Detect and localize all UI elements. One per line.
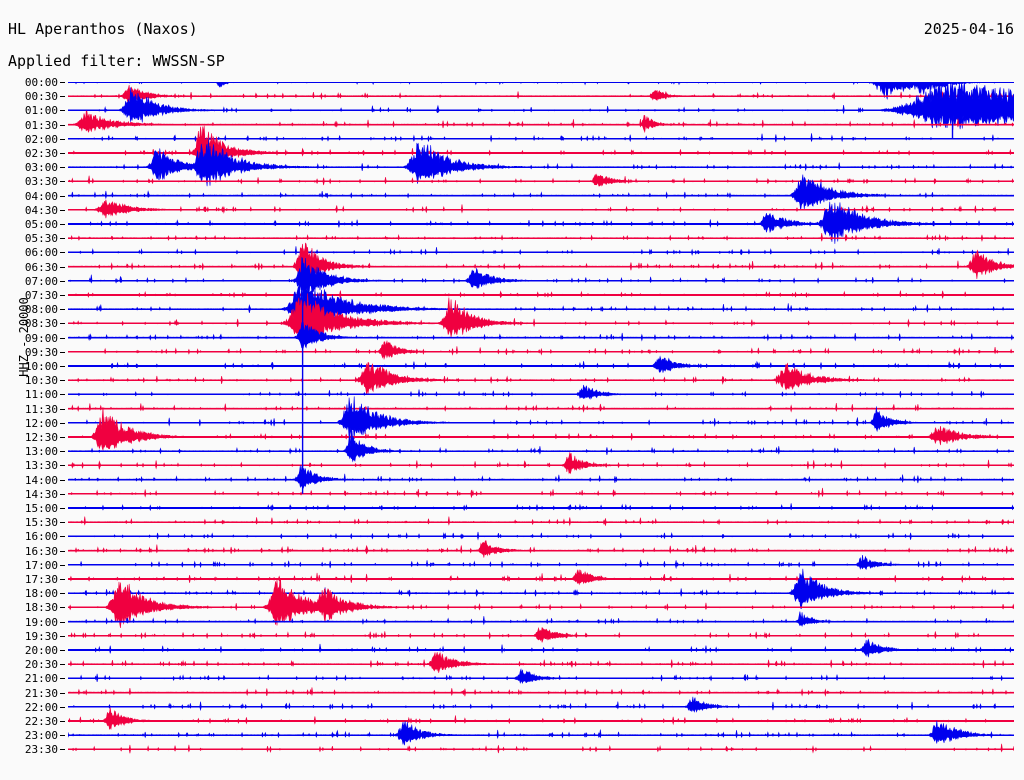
time-label: 12:30 xyxy=(0,431,58,444)
time-tick xyxy=(60,451,65,452)
time-tick xyxy=(60,167,65,168)
time-tick xyxy=(60,153,65,154)
time-label: 22:00 xyxy=(0,701,58,714)
time-tick xyxy=(60,494,65,495)
time-label: 20:00 xyxy=(0,644,58,657)
time-label: 05:00 xyxy=(0,218,58,231)
time-tick xyxy=(60,749,65,750)
seismic-trace xyxy=(68,258,1014,297)
time-tick xyxy=(60,338,65,339)
seismic-trace xyxy=(68,488,1014,498)
time-tick xyxy=(60,707,65,708)
seismic-trace xyxy=(68,200,1014,219)
time-label: 20:30 xyxy=(0,658,58,671)
time-tick xyxy=(60,636,65,637)
time-tick xyxy=(60,196,65,197)
time-tick xyxy=(60,82,65,83)
time-tick xyxy=(60,522,65,523)
time-tick xyxy=(60,551,65,552)
seismic-trace xyxy=(68,363,1014,395)
time-label: 03:00 xyxy=(0,161,58,174)
time-label: 13:00 xyxy=(0,445,58,458)
time-label: 08:30 xyxy=(0,317,58,330)
time-tick xyxy=(60,593,65,594)
time-tick xyxy=(60,579,65,580)
time-tick xyxy=(60,309,65,310)
time-tick xyxy=(60,352,65,353)
time-label: 16:00 xyxy=(0,530,58,543)
helicorder-plot xyxy=(68,82,1014,764)
time-tick xyxy=(60,96,65,97)
seismic-trace xyxy=(68,652,1014,673)
time-label: 18:00 xyxy=(0,587,58,600)
time-label: 06:30 xyxy=(0,261,58,274)
seismic-trace xyxy=(68,82,1014,130)
time-tick xyxy=(60,323,65,324)
seismic-trace xyxy=(68,541,1014,558)
time-label: 01:00 xyxy=(0,104,58,117)
time-label: 07:30 xyxy=(0,289,58,302)
seismic-trace xyxy=(68,396,1014,439)
time-tick xyxy=(60,622,65,623)
time-label: 02:00 xyxy=(0,133,58,146)
seismic-trace xyxy=(68,133,1014,142)
time-label: 00:00 xyxy=(0,76,58,89)
seismic-trace xyxy=(68,697,1014,712)
time-tick xyxy=(60,125,65,126)
time-label: 17:00 xyxy=(0,559,58,572)
time-label: 01:30 xyxy=(0,119,58,132)
seismic-trace xyxy=(68,246,1014,255)
time-label: 14:30 xyxy=(0,488,58,501)
time-tick xyxy=(60,409,65,410)
time-label: 18:30 xyxy=(0,601,58,614)
seismic-trace xyxy=(68,341,1014,359)
time-tick xyxy=(60,210,65,211)
time-label: 10:30 xyxy=(0,374,58,387)
seismic-trace xyxy=(68,465,1014,488)
seismic-trace xyxy=(68,139,1014,186)
seismic-trace xyxy=(68,403,1014,412)
time-label: 13:30 xyxy=(0,459,58,472)
time-tick xyxy=(60,650,65,651)
seismic-trace xyxy=(68,708,1014,730)
time-tick xyxy=(60,664,65,665)
time-label: 05:30 xyxy=(0,232,58,245)
time-tick xyxy=(60,224,65,225)
seismic-trace xyxy=(68,293,1014,341)
seismic-trace xyxy=(68,744,1014,754)
seismic-trace xyxy=(68,243,1014,284)
time-label: 10:00 xyxy=(0,360,58,373)
seismic-trace xyxy=(68,570,1014,585)
seismic-trace xyxy=(68,517,1014,526)
seismic-trace xyxy=(68,628,1014,643)
time-label: 09:30 xyxy=(0,346,58,359)
time-label: 00:30 xyxy=(0,90,58,103)
time-tick xyxy=(60,380,65,381)
time-tick xyxy=(60,735,65,736)
seismic-trace xyxy=(68,721,1014,745)
time-label: 04:30 xyxy=(0,204,58,217)
applied-filter-label: Applied filter: WWSSN-SP xyxy=(8,52,225,70)
time-label: 16:30 xyxy=(0,545,58,558)
time-tick xyxy=(60,139,65,140)
time-label: 14:00 xyxy=(0,474,58,487)
seismic-trace xyxy=(68,611,1014,626)
seismic-trace xyxy=(68,407,1014,450)
seismic-trace xyxy=(68,385,1014,399)
seismic-trace xyxy=(68,669,1014,683)
time-label: 11:00 xyxy=(0,388,58,401)
time-tick xyxy=(60,423,65,424)
trace-canvas xyxy=(68,82,1014,764)
station-title: HL Aperanthos (Naxos) xyxy=(8,20,198,38)
seismic-trace xyxy=(68,555,1014,569)
time-tick xyxy=(60,565,65,566)
time-tick xyxy=(60,252,65,253)
seismic-trace xyxy=(68,639,1014,657)
time-label: 03:30 xyxy=(0,175,58,188)
time-tick xyxy=(60,721,65,722)
time-label: 08:00 xyxy=(0,303,58,316)
seismic-trace xyxy=(68,322,1014,348)
seismic-trace xyxy=(68,111,1014,132)
time-tick xyxy=(60,295,65,296)
time-label: 09:00 xyxy=(0,332,58,345)
seismic-trace xyxy=(68,85,1014,103)
time-label: 19:30 xyxy=(0,630,58,643)
time-tick xyxy=(60,536,65,537)
time-label: 23:00 xyxy=(0,729,58,742)
time-tick xyxy=(60,437,65,438)
time-label: 07:00 xyxy=(0,275,58,288)
time-tick xyxy=(60,366,65,367)
time-label: 22:30 xyxy=(0,715,58,728)
time-tick xyxy=(60,267,65,268)
time-tick xyxy=(60,238,65,239)
time-label: 19:00 xyxy=(0,616,58,629)
time-label: 15:00 xyxy=(0,502,58,515)
time-tick xyxy=(60,480,65,481)
seismic-trace xyxy=(68,431,1014,461)
time-tick xyxy=(60,110,65,111)
seismic-trace xyxy=(68,283,1014,328)
time-tick xyxy=(60,394,65,395)
seismic-trace xyxy=(68,503,1014,510)
record-date: 2025-04-16 xyxy=(924,20,1014,38)
time-tick xyxy=(60,508,65,509)
time-tick xyxy=(60,181,65,182)
time-label: 02:30 xyxy=(0,147,58,160)
time-label: 21:30 xyxy=(0,687,58,700)
time-tick xyxy=(60,693,65,694)
time-label: 23:30 xyxy=(0,743,58,756)
time-label: 11:30 xyxy=(0,403,58,416)
time-tick xyxy=(60,607,65,608)
seismic-trace xyxy=(68,357,1014,373)
time-tick xyxy=(60,678,65,679)
time-label: 04:00 xyxy=(0,190,58,203)
time-label: 12:00 xyxy=(0,417,58,430)
seismic-trace xyxy=(68,569,1014,609)
seismic-trace xyxy=(68,233,1014,241)
time-label: 06:00 xyxy=(0,246,58,259)
time-tick xyxy=(60,281,65,282)
time-tick xyxy=(60,465,65,466)
time-label: 15:30 xyxy=(0,516,58,529)
seismogram-page: HL Aperanthos (Naxos) Applied filter: WW… xyxy=(0,0,1024,780)
time-label: 21:00 xyxy=(0,672,58,685)
seismic-trace xyxy=(68,453,1014,474)
time-label: 17:30 xyxy=(0,573,58,586)
